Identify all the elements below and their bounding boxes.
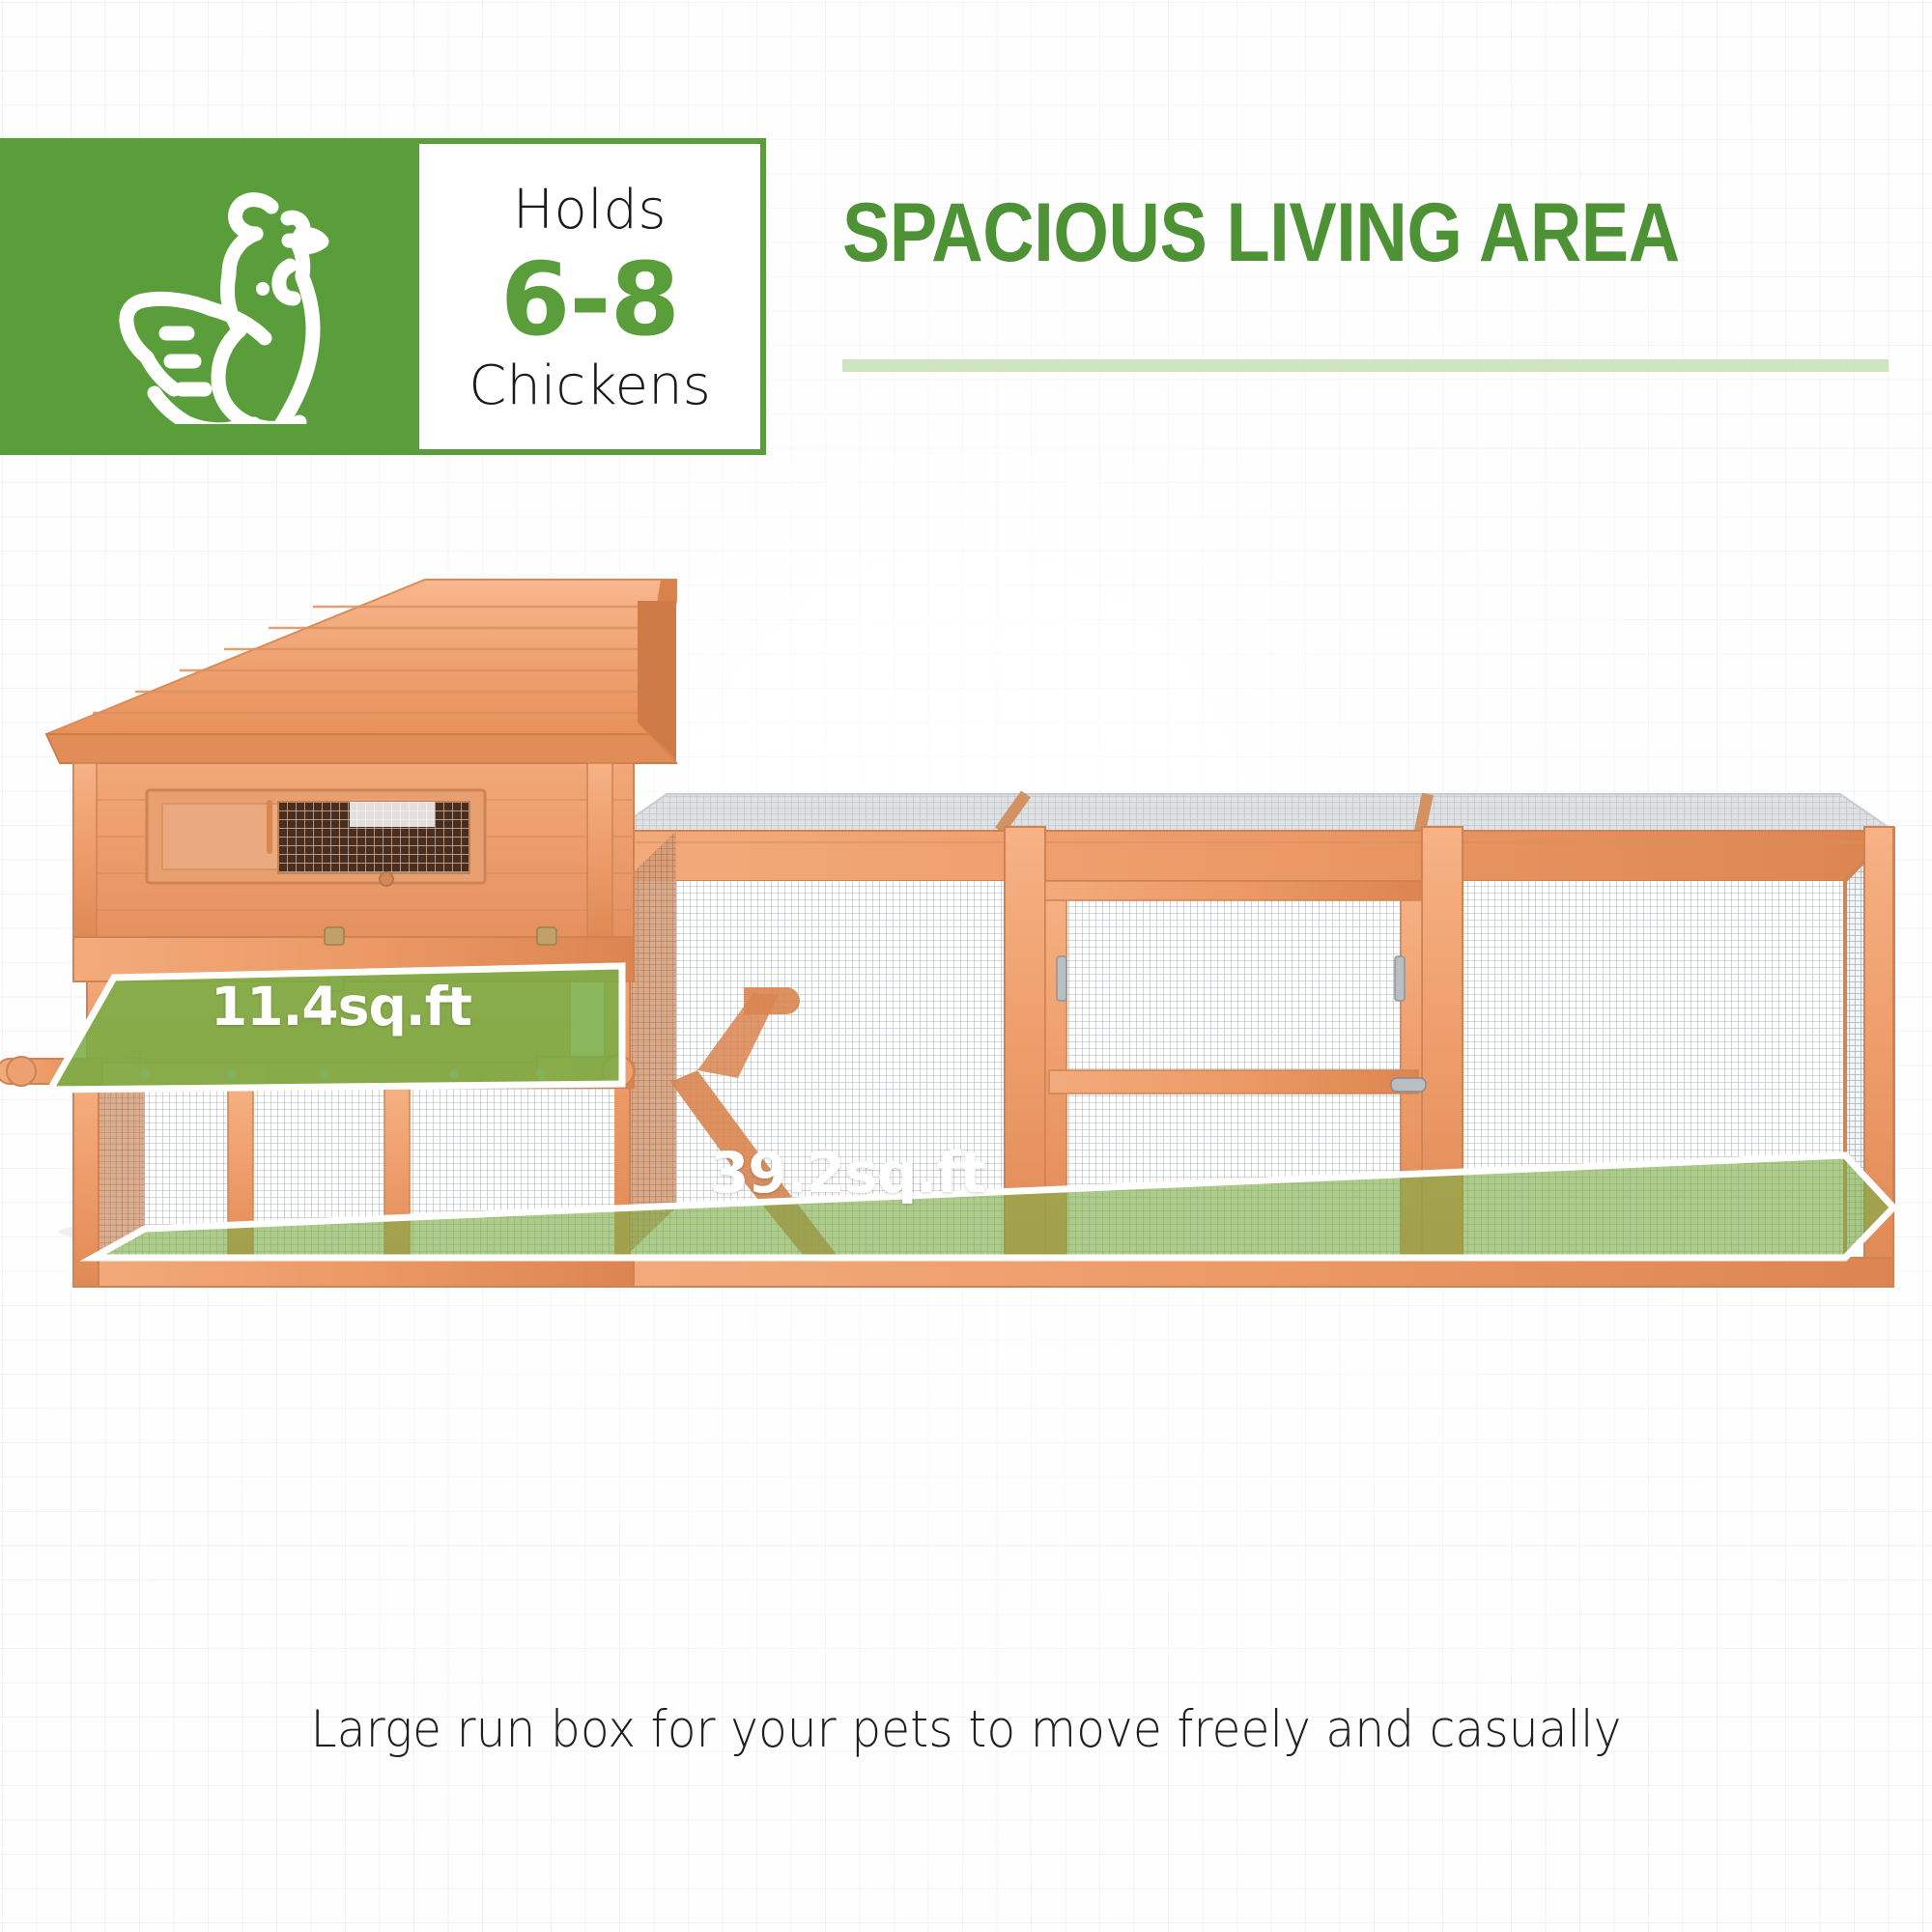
product-illustration	[0, 541, 1932, 1681]
capacity-count: 6-8	[500, 247, 679, 353]
coop-svg	[0, 541, 1932, 1681]
caption-text: Large run box for your pets to move free…	[77, 1700, 1855, 1759]
headline-divider	[842, 359, 1889, 372]
page-title: SPACIOUS LIVING AREA	[842, 191, 1756, 274]
door-hinge	[1057, 956, 1066, 1001]
latch	[325, 927, 344, 945]
holds-label: Holds	[513, 184, 667, 238]
capacity-text-box: Holds 6-8 Chickens	[419, 144, 760, 449]
chicken-icon-cell	[0, 138, 419, 455]
chicken-icon	[65, 165, 355, 429]
coop-area-label: 11.4sq.ft	[211, 976, 471, 1037]
chickens-label: Chickens	[469, 359, 711, 413]
capacity-badge: Holds 6-8 Chickens	[0, 138, 766, 455]
door-latch	[1391, 1078, 1426, 1092]
run-area-label: 39.2sq.ft	[710, 1140, 985, 1206]
